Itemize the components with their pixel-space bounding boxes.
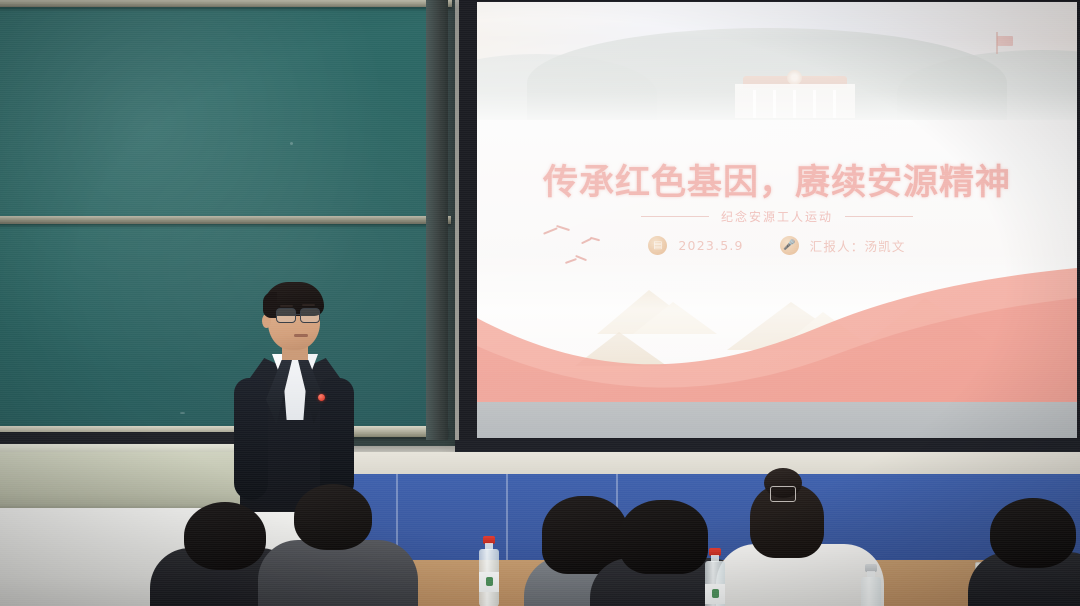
hair-clip-icon <box>770 486 796 502</box>
audience-head <box>184 502 266 570</box>
screen-letterbox <box>477 402 1077 438</box>
presenter-mouth <box>294 334 308 337</box>
audience-student-far-right <box>968 498 1080 606</box>
presenter-arm-right <box>320 378 354 500</box>
presenter-arm-left <box>234 378 268 500</box>
presenter-brow-right <box>302 304 315 306</box>
blackboard <box>0 0 455 446</box>
audience-head <box>294 484 372 550</box>
audience-head <box>990 498 1076 568</box>
chalk-speck <box>290 142 293 145</box>
blackboard-rail-top <box>0 0 452 7</box>
bottle-body <box>861 577 881 606</box>
chalk-speck <box>180 412 185 414</box>
projector-washout <box>477 2 1077 402</box>
glasses-icon <box>276 308 320 321</box>
audience-student-front-left-2 <box>258 484 418 606</box>
presentation-slide: 传承红色基因，赓续安源精神 纪念安源工人运动 ▤ 2023.5.9 🎤 汇报人：… <box>477 2 1077 402</box>
presenter <box>232 282 358 512</box>
wainscot-seam <box>506 474 508 566</box>
audience-head <box>620 500 708 574</box>
presenter-brow-left <box>280 305 293 307</box>
blackboard-right-edge <box>426 0 448 440</box>
projection-screen-frame: 传承红色基因，赓续安源精神 纪念安源工人运动 ▤ 2023.5.9 🎤 汇报人：… <box>459 0 1080 454</box>
presenter-sideburn <box>263 292 277 318</box>
audience-student-right-bun <box>716 466 884 606</box>
bottle-logo-icon <box>486 577 493 586</box>
red-lapel-pin-icon <box>318 394 325 401</box>
bottle-logo-icon <box>712 589 719 598</box>
classroom-photo: 传承红色基因，赓续安源精神 纪念安源工人运动 ▤ 2023.5.9 🎤 汇报人：… <box>0 0 1080 606</box>
blackboard-rail-middle <box>0 216 451 224</box>
projection-screen: 传承红色基因，赓续安源精神 纪念安源工人运动 ▤ 2023.5.9 🎤 汇报人：… <box>477 2 1077 438</box>
